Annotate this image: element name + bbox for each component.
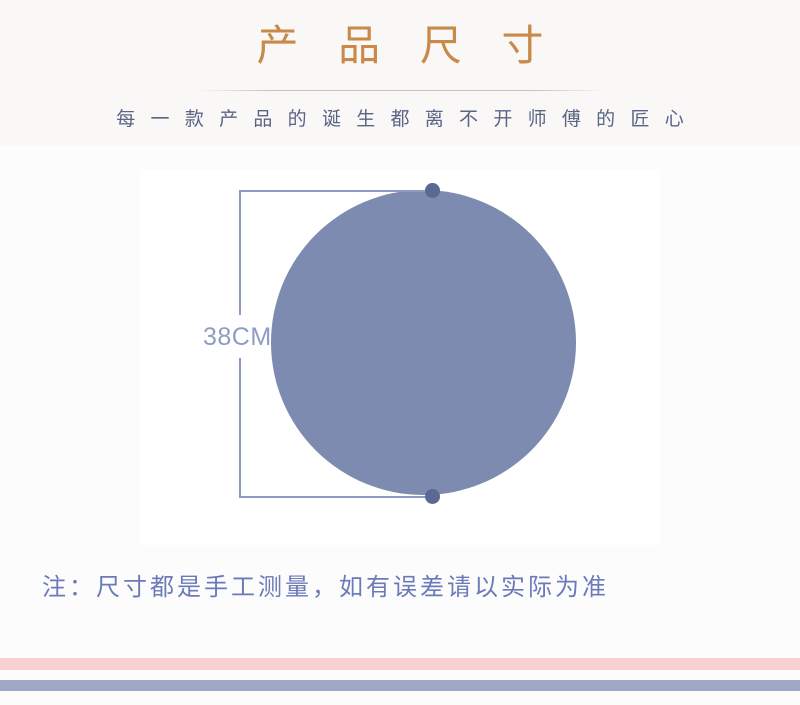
footer-decoration-pink-bar (0, 658, 800, 670)
measure-bracket-horizontal-top (239, 190, 433, 192)
page-title: 产 品 尺 寸 (0, 20, 800, 72)
header-band: 产 品 尺 寸 每 一 款 产 品 的 诞 生 都 离 不 开 师 傅 的 匠 … (0, 0, 800, 145)
page-subtitle: 每 一 款 产 品 的 诞 生 都 离 不 开 师 傅 的 匠 心 (0, 106, 800, 134)
measure-bracket-vertical-bottom (239, 358, 241, 497)
measure-label-diameter: 38CM (203, 322, 272, 352)
measure-bracket-vertical-top (239, 190, 241, 315)
product-image-panel (140, 170, 660, 545)
measure-endpoint-dot-bottom (425, 489, 440, 504)
measurement-note: 注：尺寸都是手工测量，如有误差请以实际为准 (42, 571, 609, 605)
measure-bracket-horizontal-bottom (239, 496, 433, 498)
main-content-area: 38CM 注：尺寸都是手工测量，如有误差请以实际为准 (0, 145, 800, 705)
title-divider (196, 90, 606, 91)
footer-decoration-blue-bar (0, 680, 800, 691)
product-circle-shape (271, 190, 576, 495)
measure-endpoint-dot-top (425, 183, 440, 198)
